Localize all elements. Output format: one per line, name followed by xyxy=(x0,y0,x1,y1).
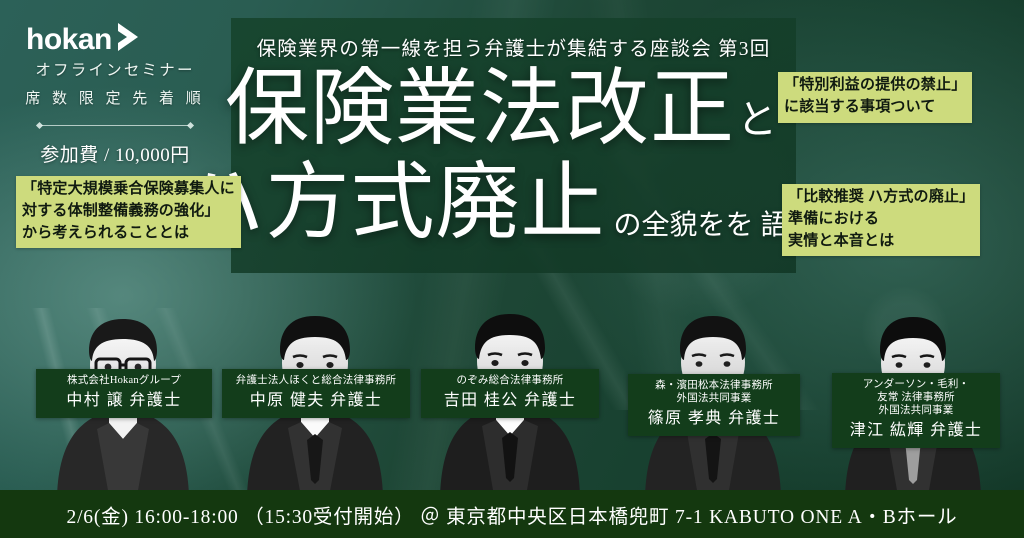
callout-bottom-right-line-1: 「比較推奨 ハ方式の廃止」 xyxy=(788,187,974,209)
callout-left-line-3: から考えられることとは xyxy=(22,223,235,245)
speaker-firm-5-line-2: 友常 法律事務所 xyxy=(841,391,991,404)
headline-connector: と xyxy=(737,100,777,140)
seminar-poster: hokan オフラインセミナー 席 数 限 定 先 着 順 参加費 / 10,0… xyxy=(0,0,1024,538)
callout-top-right-line-1: 「特別利益の提供の禁止」 xyxy=(784,75,966,97)
speaker-firm-4-line-2: 外国法共同事業 xyxy=(637,392,791,405)
speaker-plate-3: のぞみ総合法律事務所 吉田 桂公 弁護士 xyxy=(421,369,599,418)
callout-top-right-line-2: に該当する事項ついて xyxy=(784,97,966,119)
speaker-name-5: 津江 紘輝 弁護士 xyxy=(841,421,991,441)
callout-bottom-right: 「比較推奨 ハ方式の廃止」 準備における 実情と本音とは xyxy=(782,184,980,256)
speaker-name-4: 篠原 孝典 弁護士 xyxy=(637,409,791,429)
speaker-card-1: 株式会社Hokanグループ 中村 譲 弁護士 xyxy=(28,258,218,496)
speaker-firm-2: 弁護士法人ほくと総合法律事務所 xyxy=(231,374,401,387)
speaker-firm-3: のぞみ総合法律事務所 xyxy=(430,374,590,387)
headline-main-1: 保険業法改正 xyxy=(225,68,735,152)
speaker-firm-1: 株式会社Hokanグループ xyxy=(45,374,203,387)
speaker-name-2: 中原 健夫 弁護士 xyxy=(231,391,401,411)
speaker-card-2: 弁護士法人ほくと総合法律事務所 中原 健夫 弁護士 xyxy=(220,258,410,496)
hokan-logo[interactable]: hokan xyxy=(26,22,140,57)
speaker-plate-4: 森・濱田松本法律事務所 外国法共同事業 篠原 孝典 弁護士 xyxy=(628,374,800,436)
chevron-right-icon xyxy=(114,22,140,57)
headline-kicker: 保険業界の第一線を担う弁護士が集結する座談会 第3回 xyxy=(231,32,796,61)
callout-left: 「特定大規模乗合保険募集人に 対する体制整備義務の強化」 から考えられることとは xyxy=(16,176,241,248)
event-details-bar: 2/6(金) 16:00-18:00 （15:30受付開始） ＠ 東京都中央区日… xyxy=(0,490,1024,538)
callout-left-line-2: 対する体制整備義務の強化」 xyxy=(22,201,235,223)
speaker-card-4: 森・濱田松本法律事務所 外国法共同事業 篠原 孝典 弁護士 xyxy=(618,258,808,496)
speaker-firm-5-line-3: 外国法共同事業 xyxy=(841,404,991,417)
speaker-card-3: のぞみ総合法律事務所 吉田 桂公 弁護士 xyxy=(415,258,605,496)
callout-bottom-right-line-3: 実情と本音とは xyxy=(788,231,974,253)
headline-tail-line-1: の全貌を xyxy=(613,210,725,241)
callout-top-right: 「特別利益の提供の禁止」 に該当する事項ついて xyxy=(778,72,972,123)
speaker-card-5: アンダーソン・毛利・ 友常 法律事務所 外国法共同事業 津江 紘輝 弁護士 xyxy=(818,258,1008,496)
speaker-plate-5: アンダーソン・毛利・ 友常 法律事務所 外国法共同事業 津江 紘輝 弁護士 xyxy=(832,373,1000,448)
callout-bottom-right-line-2: 準備における xyxy=(788,209,974,231)
speaker-lineup: 株式会社Hokanグループ 中村 譲 弁護士 xyxy=(0,258,1024,496)
headline-main-2: ハ方式廃止 xyxy=(180,162,605,246)
speaker-name-3: 吉田 桂公 弁護士 xyxy=(430,391,590,411)
speaker-firm-4-line-1: 森・濱田松本法律事務所 xyxy=(637,379,791,392)
event-details-text: 2/6(金) 16:00-18:00 （15:30受付開始） ＠ 東京都中央区日… xyxy=(67,500,958,529)
speaker-plate-1: 株式会社Hokanグループ 中村 譲 弁護士 xyxy=(36,369,212,418)
speaker-name-1: 中村 譲 弁護士 xyxy=(45,391,203,411)
callout-left-line-1: 「特定大規模乗合保険募集人に xyxy=(22,179,235,201)
logo-wordmark: hokan xyxy=(26,25,112,55)
speaker-firm-5-line-1: アンダーソン・毛利・ xyxy=(841,378,991,391)
speaker-plate-2: 弁護士法人ほくと総合法律事務所 中原 健夫 弁護士 xyxy=(222,369,410,418)
